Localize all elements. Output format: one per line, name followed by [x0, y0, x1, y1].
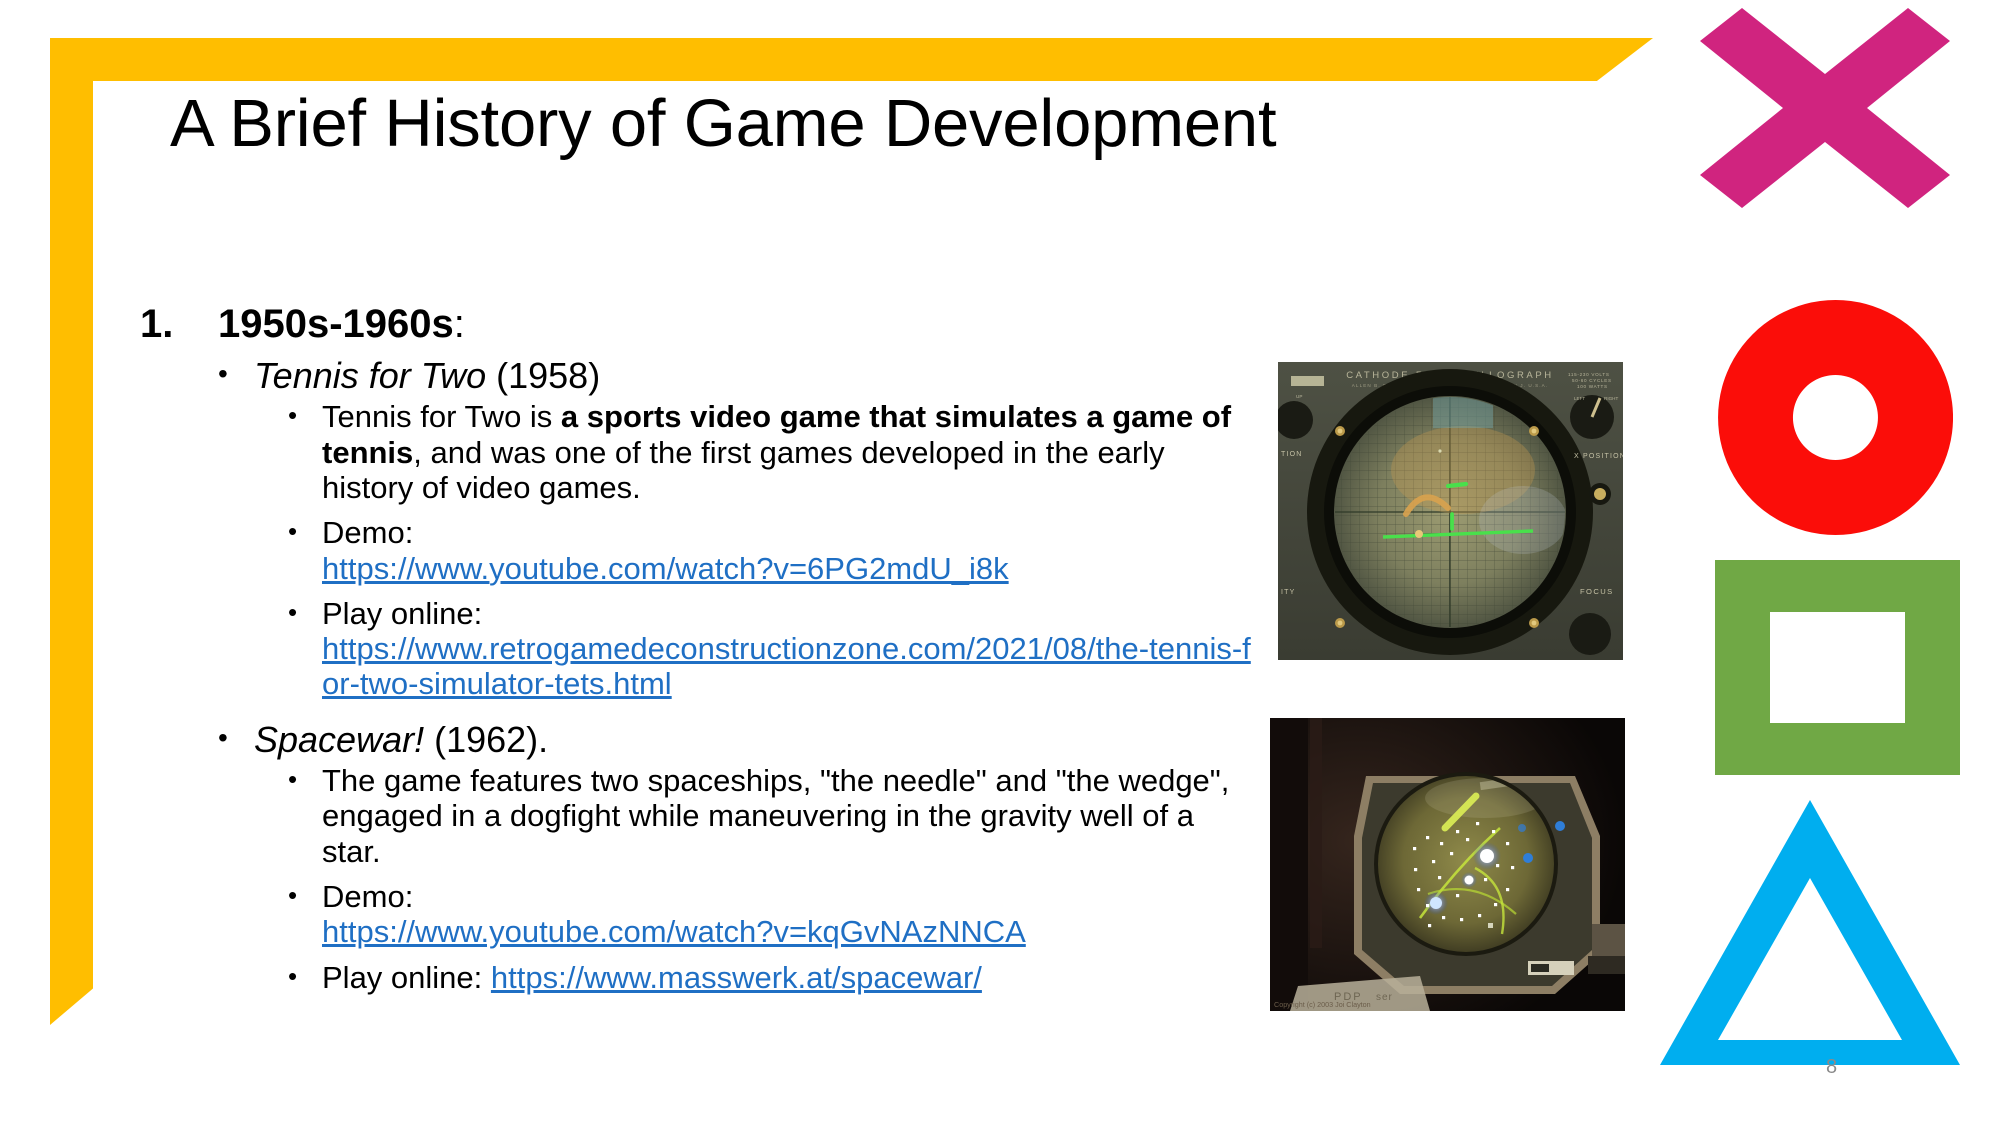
frame-top-bar	[50, 38, 1653, 81]
list-item-spacewar-demo: • Demo: https://www.youtube.com/watch?v=…	[288, 879, 1260, 950]
page-title: A Brief History of Game Development	[170, 85, 1620, 163]
spacewar-play-label: Play online:	[322, 960, 482, 995]
bullet-icon: •	[288, 960, 322, 994]
tennis-play-label: Play online:	[322, 596, 482, 631]
svg-text:100 WATTS: 100 WATTS	[1577, 384, 1608, 389]
list-item-game-tennis: • Tennis for Two (1958)	[218, 354, 1260, 397]
circle-shape	[1718, 300, 1953, 535]
bullet-icon: •	[288, 596, 322, 630]
list-item-tennis-description: • Tennis for Two is a sports video game …	[288, 399, 1260, 505]
bullet-icon: •	[288, 515, 322, 549]
triangle-shape	[1660, 800, 1960, 1065]
svg-text:115-230 VOLTS: 115-230 VOLTS	[1568, 372, 1610, 377]
svg-text:50-60 CYCLES: 50-60 CYCLES	[1572, 378, 1612, 383]
list-item-tennis-play: • Play online: https://www.retrogamedeco…	[288, 596, 1260, 702]
slide-canvas: A Brief History of Game Development 1. 1…	[0, 0, 2000, 1125]
tennis-play-link[interactable]: https://www.retrogamedeconstructionzone.…	[322, 631, 1251, 701]
spacewar-play-link[interactable]: https://www.masswerk.at/spacewar/	[491, 960, 982, 995]
list-number: 1.	[140, 300, 218, 348]
bullet-icon: •	[218, 718, 254, 759]
bullet-icon: •	[218, 354, 254, 395]
svg-text:TION: TION	[1281, 451, 1303, 458]
list-item-game-spacewar: • Spacewar! (1962).	[218, 718, 1260, 761]
spacewar-demo-link[interactable]: https://www.youtube.com/watch?v=kqGvNAzN…	[322, 914, 1026, 949]
tennis-demo-link[interactable]: https://www.youtube.com/watch?v=6PG2mdU_…	[322, 551, 1009, 586]
spacewar-pdp1-display-photo: PDP ser Copyright (c) 2003 Joi Clayton	[1270, 718, 1625, 1011]
game-year-tennis: (1958)	[496, 355, 600, 396]
bullet-icon: •	[288, 763, 322, 797]
spacewar-desc: The game features two spaceships, "the n…	[322, 763, 1260, 869]
svg-text:LEFT: LEFT	[1574, 396, 1585, 401]
square-shape	[1715, 560, 1960, 775]
list-item-spacewar-play: • Play online: https://www.masswerk.at/s…	[288, 960, 1260, 995]
slide-number: 8	[1826, 1056, 1837, 1079]
bullet-icon: •	[288, 399, 322, 433]
list-item-tennis-demo: • Demo: https://www.youtube.com/watch?v=…	[288, 515, 1260, 586]
content-body: 1. 1950s-1960s: • Tennis for Two (1958) …	[140, 300, 1260, 1005]
svg-text:Copyright (c) 2003 Joi Clayton: Copyright (c) 2003 Joi Clayton	[1274, 1000, 1371, 1009]
decade-label: 1950s-1960s	[218, 302, 454, 346]
spacewar-demo-label: Demo:	[322, 879, 413, 914]
game-title-tennis: Tennis for Two	[254, 355, 486, 396]
tennis-desc-part1: Tennis for Two is	[322, 399, 561, 434]
x-mark-shape	[1700, 8, 1950, 208]
svg-text:ser: ser	[1376, 992, 1393, 1003]
frame-left-bar	[50, 38, 93, 1025]
tennis-for-two-oscilloscope-photo: CATHODE-RAY OSCILLOGRAPH ALLEN B. DUMONT…	[1278, 362, 1623, 660]
svg-text:FOCUS: FOCUS	[1580, 587, 1614, 596]
svg-text:UP: UP	[1296, 394, 1302, 399]
bullet-icon: •	[288, 879, 322, 913]
svg-text:X POSITION: X POSITION	[1574, 453, 1623, 460]
list-item-decade: 1. 1950s-1960s:	[140, 300, 1260, 348]
game-year-spacewar: (1962).	[434, 719, 548, 760]
svg-text:RIGHT: RIGHT	[1604, 396, 1618, 401]
decade-colon: :	[454, 302, 465, 346]
list-item-spacewar-description: • The game features two spaceships, "the…	[288, 763, 1260, 869]
game-title-spacewar: Spacewar!	[254, 719, 424, 760]
svg-text:ITY: ITY	[1281, 589, 1296, 596]
tennis-demo-label: Demo:	[322, 515, 413, 550]
tennis-desc-part2: , and was one of the first games develop…	[322, 435, 1165, 505]
